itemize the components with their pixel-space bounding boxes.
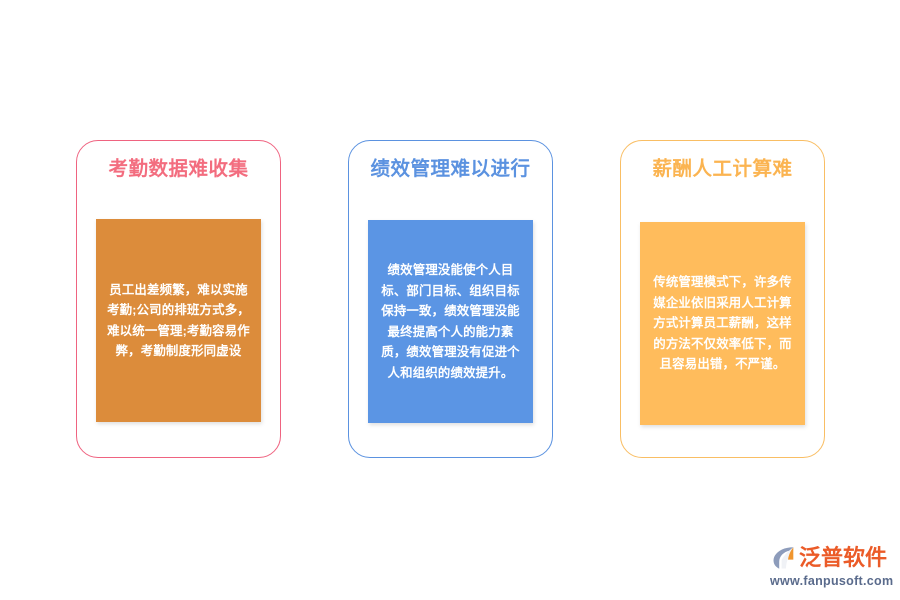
card-payroll-title: 薪酬人工计算难 <box>633 155 812 184</box>
card-attendance-body-text: 员工出差频繁，难以实施考勤;公司的排班方式多，难以统一管理;考勤容易作弊，考勤制… <box>104 280 253 362</box>
card-payroll: 薪酬人工计算难 传统管理模式下，许多传媒企业依旧采用人工计算方式计算员工薪酬，这… <box>620 140 825 458</box>
card-performance-body-text: 绩效管理没能使个人目标、部门目标、组织目标保持一致，绩效管理没能最终提高个人的能… <box>376 260 525 383</box>
brand-logo: 泛普软件 www.fanpusoft.com <box>770 543 892 591</box>
card-attendance-content-block: 员工出差频繁，难以实施考勤;公司的排班方式多，难以统一管理;考勤容易作弊，考勤制… <box>96 219 261 422</box>
fanpu-c-swirl-logo-icon <box>770 544 798 572</box>
card-performance-title: 绩效管理难以进行 <box>361 155 540 184</box>
slide-canvas: 考勤数据难收集 员工出差频繁，难以实施考勤;公司的排班方式多，难以统一管理;考勤… <box>0 0 900 600</box>
brand-wordmark: 泛普软件 <box>799 544 887 572</box>
brand-logo-row: 泛普软件 <box>770 543 892 573</box>
card-payroll-content-block: 传统管理模式下，许多传媒企业依旧采用人工计算方式计算员工薪酬，这样的方法不仅效率… <box>640 222 805 425</box>
card-attendance-title: 考勤数据难收集 <box>89 155 268 184</box>
card-attendance: 考勤数据难收集 员工出差频繁，难以实施考勤;公司的排班方式多，难以统一管理;考勤… <box>76 140 281 458</box>
card-performance-content-block: 绩效管理没能使个人目标、部门目标、组织目标保持一致，绩效管理没能最终提高个人的能… <box>368 220 533 423</box>
card-performance: 绩效管理难以进行 绩效管理没能使个人目标、部门目标、组织目标保持一致，绩效管理没… <box>348 140 553 458</box>
card-payroll-body-text: 传统管理模式下，许多传媒企业依旧采用人工计算方式计算员工薪酬，这样的方法不仅效率… <box>648 272 797 375</box>
brand-website-url: www.fanpusoft.com <box>770 574 892 588</box>
